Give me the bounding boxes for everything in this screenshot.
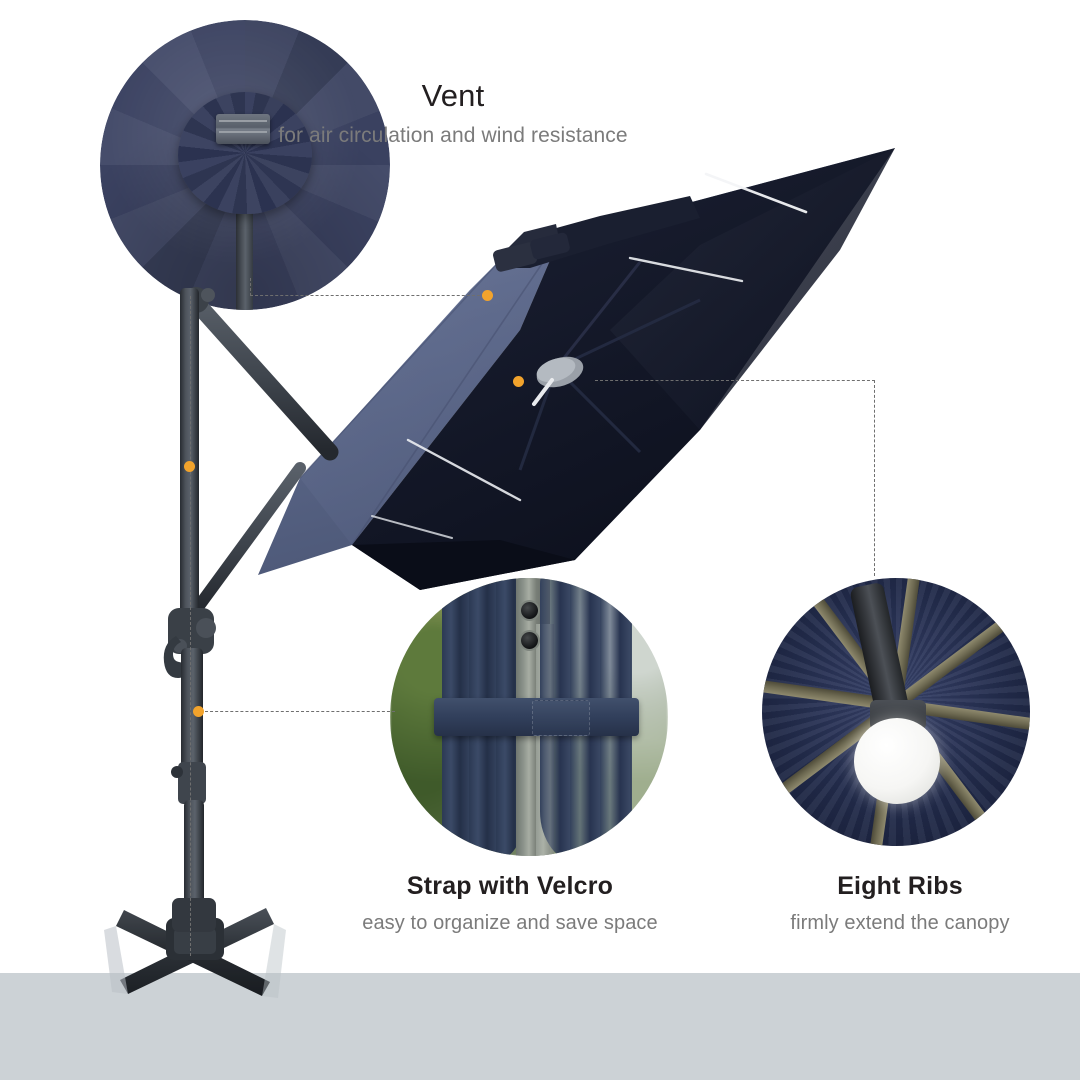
vent-subtitle: for air circulation and wind resistance — [0, 124, 993, 148]
cantilever-frame — [164, 287, 330, 930]
strap-title: Strap with Velcro — [310, 872, 710, 901]
leader-line-ribs-v — [874, 380, 875, 576]
vent-title: Vent — [0, 78, 993, 114]
ribs-title: Eight Ribs — [740, 872, 1060, 901]
leader-line-ribs-h — [595, 380, 875, 381]
callout-dot-strap — [193, 706, 204, 717]
leader-line-vent-tick — [250, 278, 251, 296]
leader-line-strap — [205, 711, 395, 712]
callout-dot-pole — [184, 461, 195, 472]
infographic-canvas: Vent for air circulation and wind resist… — [0, 0, 1080, 1080]
cross-base — [104, 898, 286, 998]
callout-dot-vent — [482, 290, 493, 301]
strap-subtitle: easy to organize and save space — [310, 912, 710, 935]
leader-line-vent — [250, 295, 490, 296]
leader-line-pole-guide — [190, 296, 191, 956]
ribs-subtitle: firmly extend the canopy — [740, 912, 1060, 935]
callout-dot-hub — [513, 376, 524, 387]
